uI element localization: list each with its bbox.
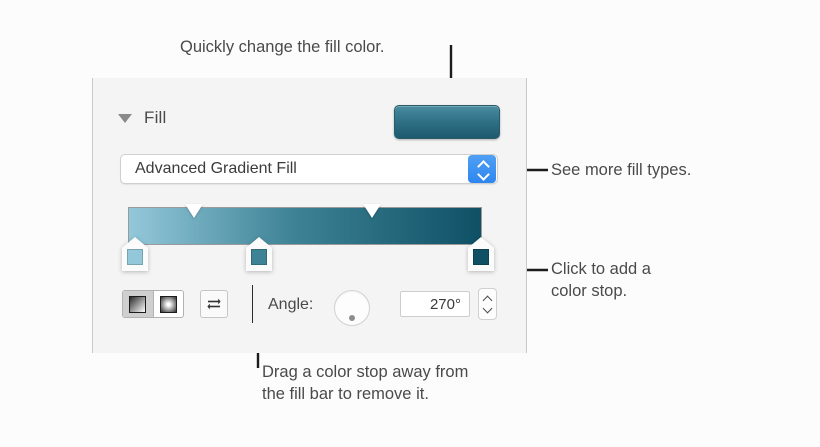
reverse-gradient-button[interactable] bbox=[200, 290, 228, 318]
panel-divider-left bbox=[92, 78, 93, 353]
angle-label: Angle: bbox=[268, 296, 313, 314]
radial-gradient-icon bbox=[160, 296, 177, 313]
callout-add-color-stop: Click to add a color stop. bbox=[551, 258, 651, 302]
radial-gradient-option[interactable] bbox=[153, 291, 183, 317]
angle-dial-icon[interactable] bbox=[334, 290, 370, 326]
callout-remove-color-stop: Drag a color stop away from the fill bar… bbox=[262, 361, 468, 405]
fill-section-header[interactable]: Fill bbox=[118, 108, 167, 128]
middle-color-stop[interactable] bbox=[246, 237, 272, 271]
gradient-bar[interactable] bbox=[128, 207, 482, 245]
angle-value-field[interactable]: 270° bbox=[400, 291, 470, 317]
linear-gradient-icon bbox=[129, 296, 146, 313]
callout-fill-color: Quickly change the fill color. bbox=[180, 36, 385, 58]
midpoint-marker-1[interactable] bbox=[185, 204, 203, 218]
fill-type-select[interactable]: Advanced Gradient Fill bbox=[120, 154, 498, 184]
callout-fill-types: See more fill types. bbox=[551, 159, 691, 181]
panel-divider-right bbox=[526, 78, 527, 353]
chevron-up-down-icon[interactable] bbox=[468, 155, 496, 183]
angle-stepper[interactable] bbox=[478, 288, 497, 320]
fill-color-swatch[interactable] bbox=[394, 105, 500, 139]
gradient-editor[interactable] bbox=[128, 207, 482, 247]
angle-dial-knob[interactable] bbox=[349, 315, 355, 321]
triangle-down-icon[interactable] bbox=[118, 114, 132, 123]
screenshot-stage: Fill Advanced Gradient Fill bbox=[0, 0, 820, 447]
fill-section-title: Fill bbox=[144, 108, 167, 128]
callout-remove-color-stop-line1: Drag a color stop away from bbox=[262, 361, 468, 383]
callout-add-color-stop-line2: color stop. bbox=[551, 280, 651, 302]
left-color-stop[interactable] bbox=[122, 237, 148, 271]
callout-remove-color-stop-line2: the fill bar to remove it. bbox=[262, 383, 468, 405]
gradient-type-segmented-control[interactable] bbox=[122, 290, 184, 318]
linear-gradient-option[interactable] bbox=[123, 291, 153, 317]
controls-vertical-separator bbox=[252, 285, 253, 323]
right-color-stop[interactable] bbox=[468, 237, 494, 271]
swap-arrows-icon bbox=[205, 295, 223, 313]
midpoint-marker-2[interactable] bbox=[363, 204, 381, 218]
fill-type-value: Advanced Gradient Fill bbox=[121, 160, 468, 178]
callout-add-color-stop-line1: Click to add a bbox=[551, 258, 651, 280]
